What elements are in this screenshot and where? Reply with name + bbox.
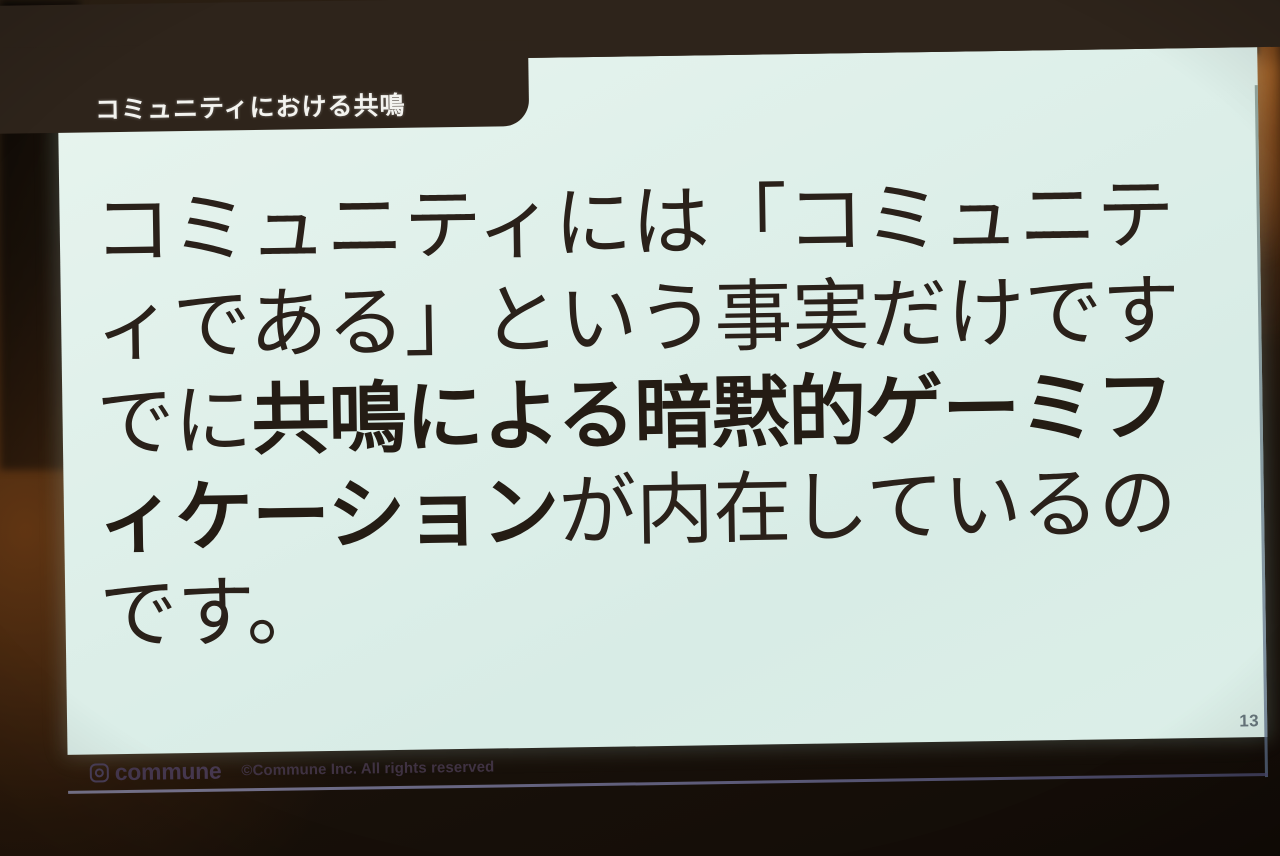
copyright-text: ©Commune Inc. All rights reserved xyxy=(241,758,494,779)
body-line-3: でに共鳴による暗黙的ゲーミフ xyxy=(96,357,1247,470)
body-line-5: です。 xyxy=(99,549,1250,662)
commune-wordmark: commune xyxy=(115,757,222,786)
body-line-4-emphasis: ィケーション xyxy=(97,468,559,563)
presentation-slide: コミュニティにおける共鳴 コミュニティには「コミュニテ ィである」という事実だけ… xyxy=(57,47,1267,755)
slide-page-number: 13 xyxy=(1239,711,1259,731)
slide-title: コミュニティにおける共鳴 xyxy=(95,86,406,127)
body-line-3-plain: でに xyxy=(96,376,252,466)
body-line-4-plain: が内在しているの xyxy=(558,458,1177,555)
projection-screen: コミュニティにおける共鳴 コミュニティには「コミュニテ ィである」という事実だけ… xyxy=(57,7,1268,745)
body-line-1: コミュニティには「コミュニテ xyxy=(93,165,1244,278)
slide-body-text: コミュニティには「コミュニテ ィである」という事実だけです でに共鳴による暗黙的… xyxy=(93,165,1250,662)
body-line-1-plain: コミュニティには「コミュニテ xyxy=(93,170,1175,274)
body-line-5-plain: です。 xyxy=(99,567,325,658)
body-line-4: ィケーションが内在しているの xyxy=(97,453,1248,566)
body-line-2: ィである」という事実だけです xyxy=(94,261,1245,374)
body-line-3-emphasis: 共鳴による暗黙的ゲーミフ xyxy=(251,362,1174,464)
commune-logo-icon xyxy=(90,763,109,782)
body-line-2-plain: ィである」という事実だけです xyxy=(95,266,1180,370)
